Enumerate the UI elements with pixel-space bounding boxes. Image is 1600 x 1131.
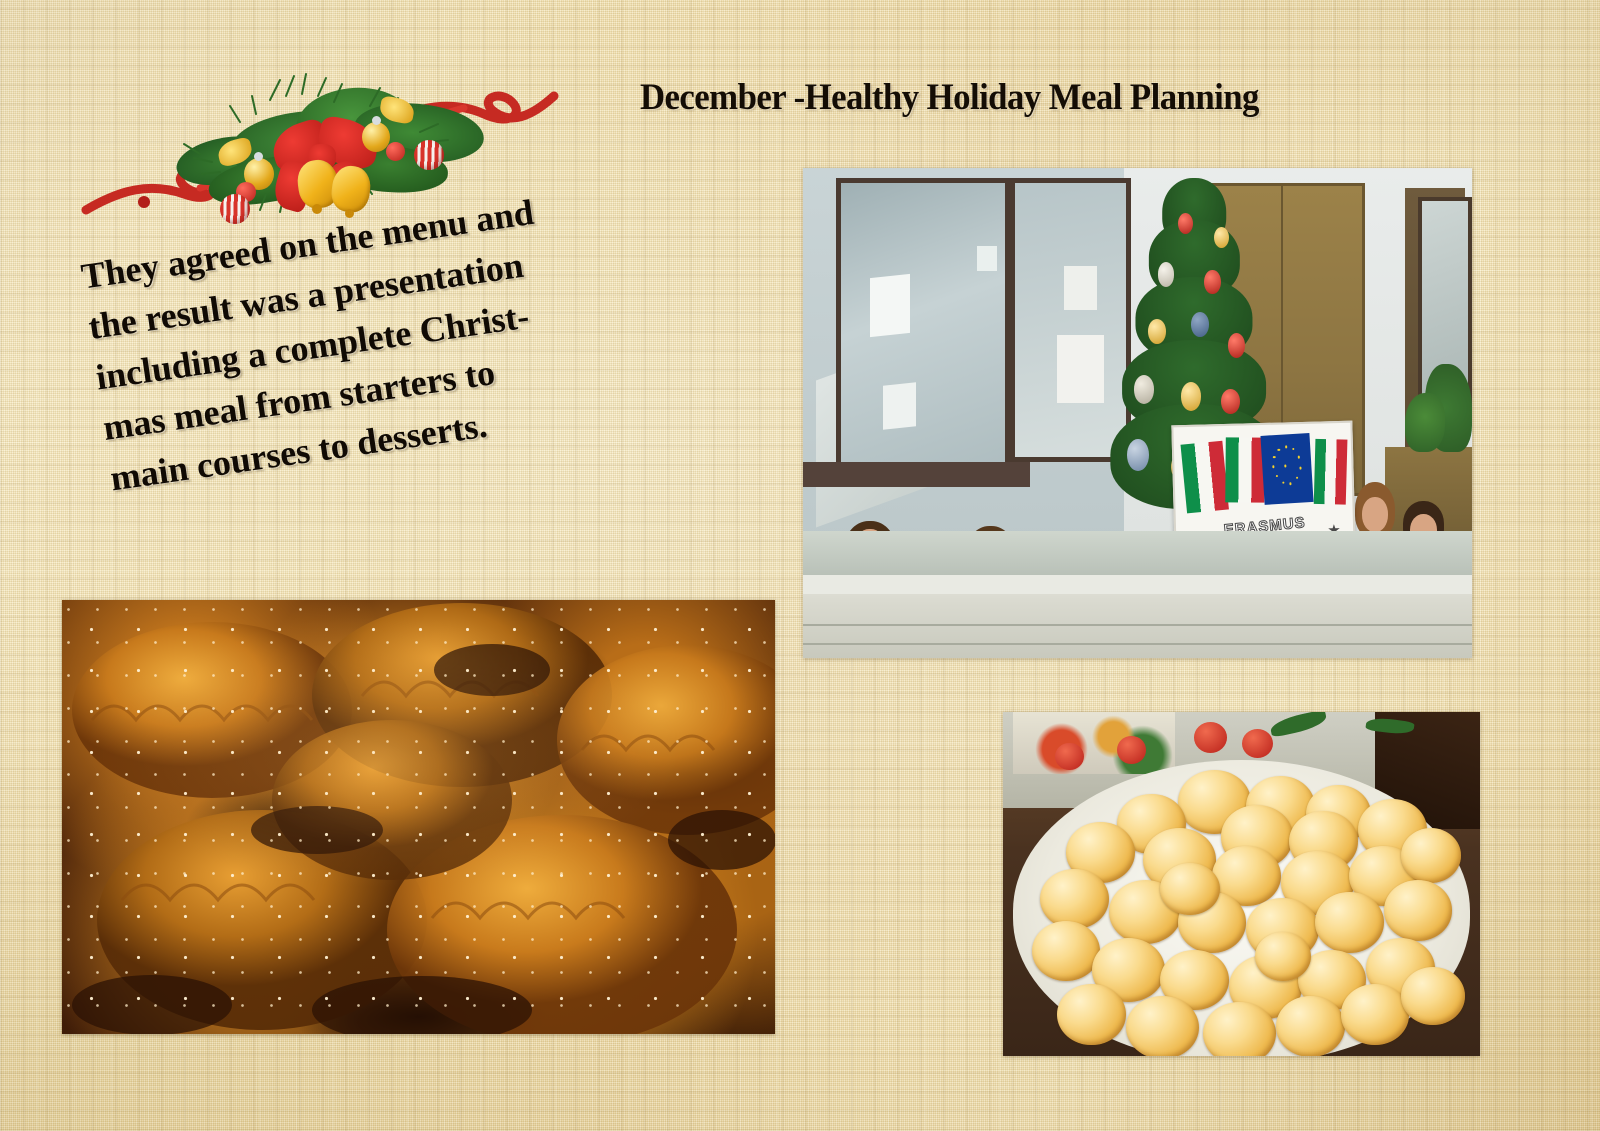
photo-glass-reflection <box>870 274 910 337</box>
photo-wall-notice <box>1064 266 1097 310</box>
eu-flag <box>1261 433 1315 505</box>
photo-wall-notice <box>1057 335 1104 404</box>
page-title: December -Healthy Holiday Meal Planning <box>640 76 1259 119</box>
photo-step-line <box>803 643 1472 645</box>
italy-flag-right <box>1314 439 1347 504</box>
photo-railing <box>803 462 1030 487</box>
tomato <box>1117 736 1146 764</box>
photo-step-edge <box>803 575 1472 595</box>
italy-flag-mid <box>1226 437 1265 502</box>
tomato <box>1242 729 1273 758</box>
photo-step-face <box>803 594 1472 658</box>
red-ornament-small-right <box>386 142 405 161</box>
group-photo-erasmus: ERASMUS <box>803 168 1472 658</box>
photo-glass-door-left <box>836 178 1010 472</box>
striped-ornament-right <box>414 140 444 170</box>
photo-step-line <box>803 624 1472 626</box>
slide-canvas: December -Healthy Holiday Meal Planning … <box>0 0 1600 1131</box>
fried-dough-pile <box>1032 770 1461 1056</box>
striped-ornament-bottom <box>220 194 250 224</box>
photo-glass-reflection <box>977 246 997 271</box>
pettole-dessert-photo <box>1003 712 1480 1056</box>
italy-flag-left <box>1181 441 1230 513</box>
silver-ornament-cap-left <box>254 152 263 161</box>
gold-bell-clapper-left <box>312 204 322 214</box>
silver-ornament-cap-right <box>372 116 381 125</box>
eu-stars <box>1261 433 1315 505</box>
cartellate-dessert-photo <box>62 600 775 1034</box>
photo-plant <box>1405 393 1445 452</box>
photo-step-top <box>803 531 1472 575</box>
pastry-gloss <box>62 600 775 1034</box>
photo-glass-reflection <box>883 382 916 430</box>
pettole-floral-bowl <box>1013 712 1175 774</box>
